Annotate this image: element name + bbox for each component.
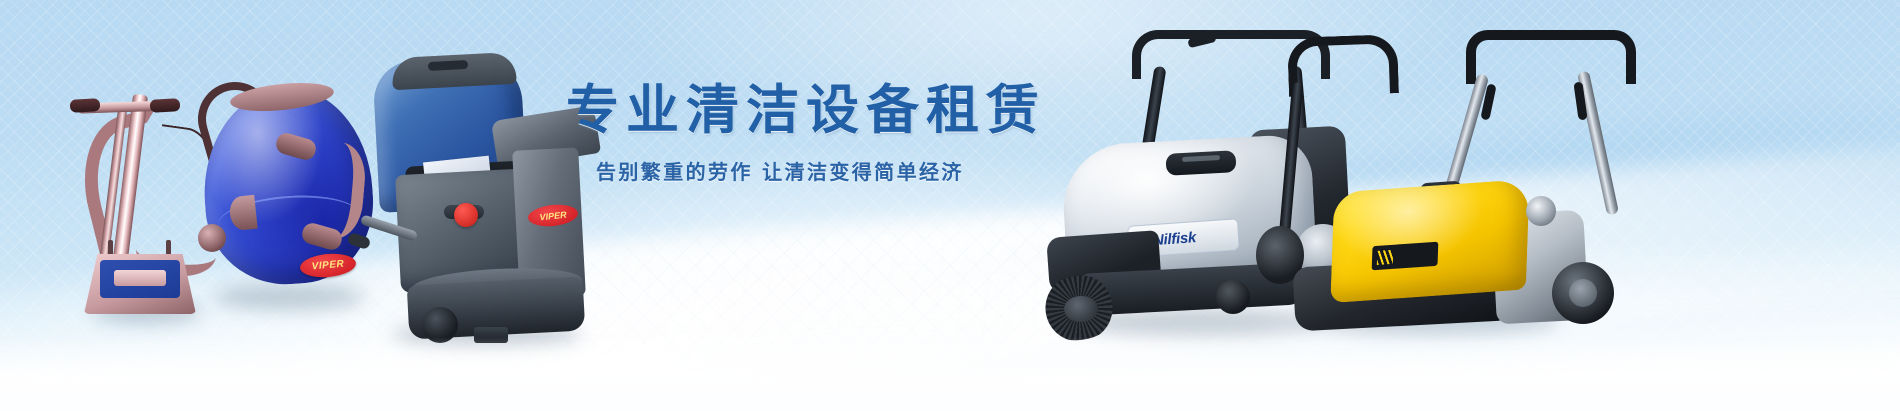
yellow-sweeper-brand-badge <box>1372 242 1439 271</box>
sweeper-brand-label: Nilfisk <box>1152 229 1196 249</box>
vacuum-brand-label: VIPER <box>311 259 344 273</box>
banner-bottom-fade <box>0 337 1900 411</box>
yellow-sweeper-handle-right <box>1466 30 1636 84</box>
sweeper-caster-wheel <box>1216 280 1250 314</box>
banner-bottom-fade-inner <box>0 377 1900 411</box>
page-subtitle: 告别繁重的劳作 让清洁变得简单经济 <box>596 162 1046 182</box>
scrubber-hood-top <box>391 52 517 90</box>
scrubber-emergency-stop-button[interactable] <box>454 203 478 227</box>
scrubber-squeegee <box>474 327 508 343</box>
vacuum-wheel <box>198 224 226 252</box>
yellow-sweeper-hub <box>1526 196 1556 226</box>
sweeper-side-brush-hub <box>1064 296 1098 322</box>
yellow-sweeper-wheel <box>1552 262 1614 324</box>
yellow-sweeper-handle-left <box>1287 34 1399 97</box>
product-image-carpet-extractor <box>70 72 205 320</box>
scrubber-wheel <box>422 307 458 343</box>
extractor-grip-left <box>70 98 101 113</box>
yellow-sweeper-hood <box>1330 179 1529 303</box>
product-image-wet-dry-vacuum: VIPER <box>196 78 382 296</box>
extractor-suction-slot <box>114 270 166 286</box>
scrubber-brand-label: VIPER <box>539 209 567 222</box>
page-title: 专业清洁设备租赁 <box>566 84 1046 137</box>
product-image-yellow-sweeper <box>1280 26 1630 326</box>
yellow-sweeper-logo-icon <box>1377 250 1393 265</box>
banner-copy: 专业清洁设备租赁 告别繁重的劳作 让清洁变得简单经济 <box>566 84 1046 182</box>
sweeper-top-vent <box>1165 150 1236 176</box>
extractor-grip-right <box>150 98 181 113</box>
hero-banner: VIPER VIPER 专业清洁设备租赁 告别繁重的劳作 让清洁变得简单经济 <box>0 0 1900 411</box>
